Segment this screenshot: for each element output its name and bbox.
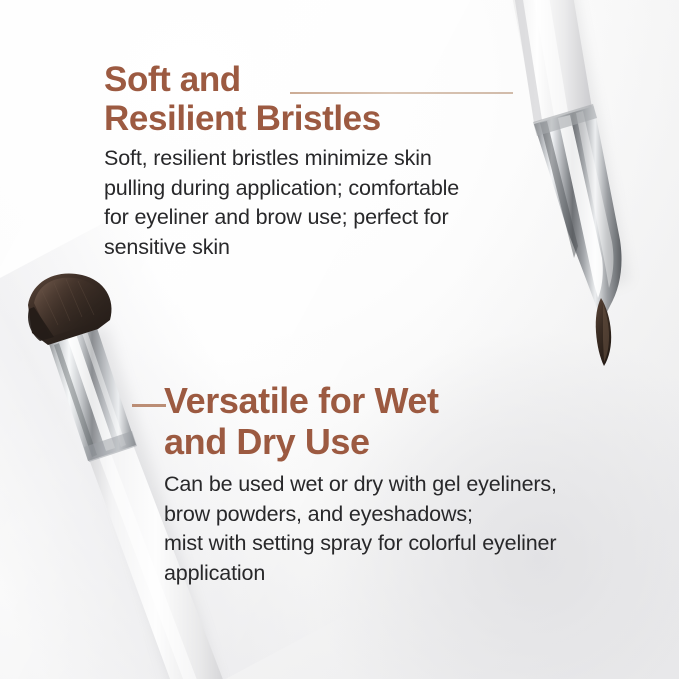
heading-dash-bottom (132, 404, 166, 407)
section-one-body: Soft, resilient bristles minimize skin p… (104, 144, 556, 262)
section-two-body: Can be used wet or dry with gel eyeliner… (164, 470, 634, 588)
product-infographic: Soft and Resilient Bristles Soft, resili… (0, 0, 679, 679)
section-two-heading: Versatile for Wet and Dry Use (164, 380, 634, 462)
section-one-heading: Soft and Resilient Bristles (104, 60, 556, 138)
section-soft-and-resilient-bristles: Soft and Resilient Bristles Soft, resili… (104, 60, 556, 262)
section-versatile-for-wet-and-dry-use: Versatile for Wet and Dry Use Can be use… (164, 380, 634, 588)
